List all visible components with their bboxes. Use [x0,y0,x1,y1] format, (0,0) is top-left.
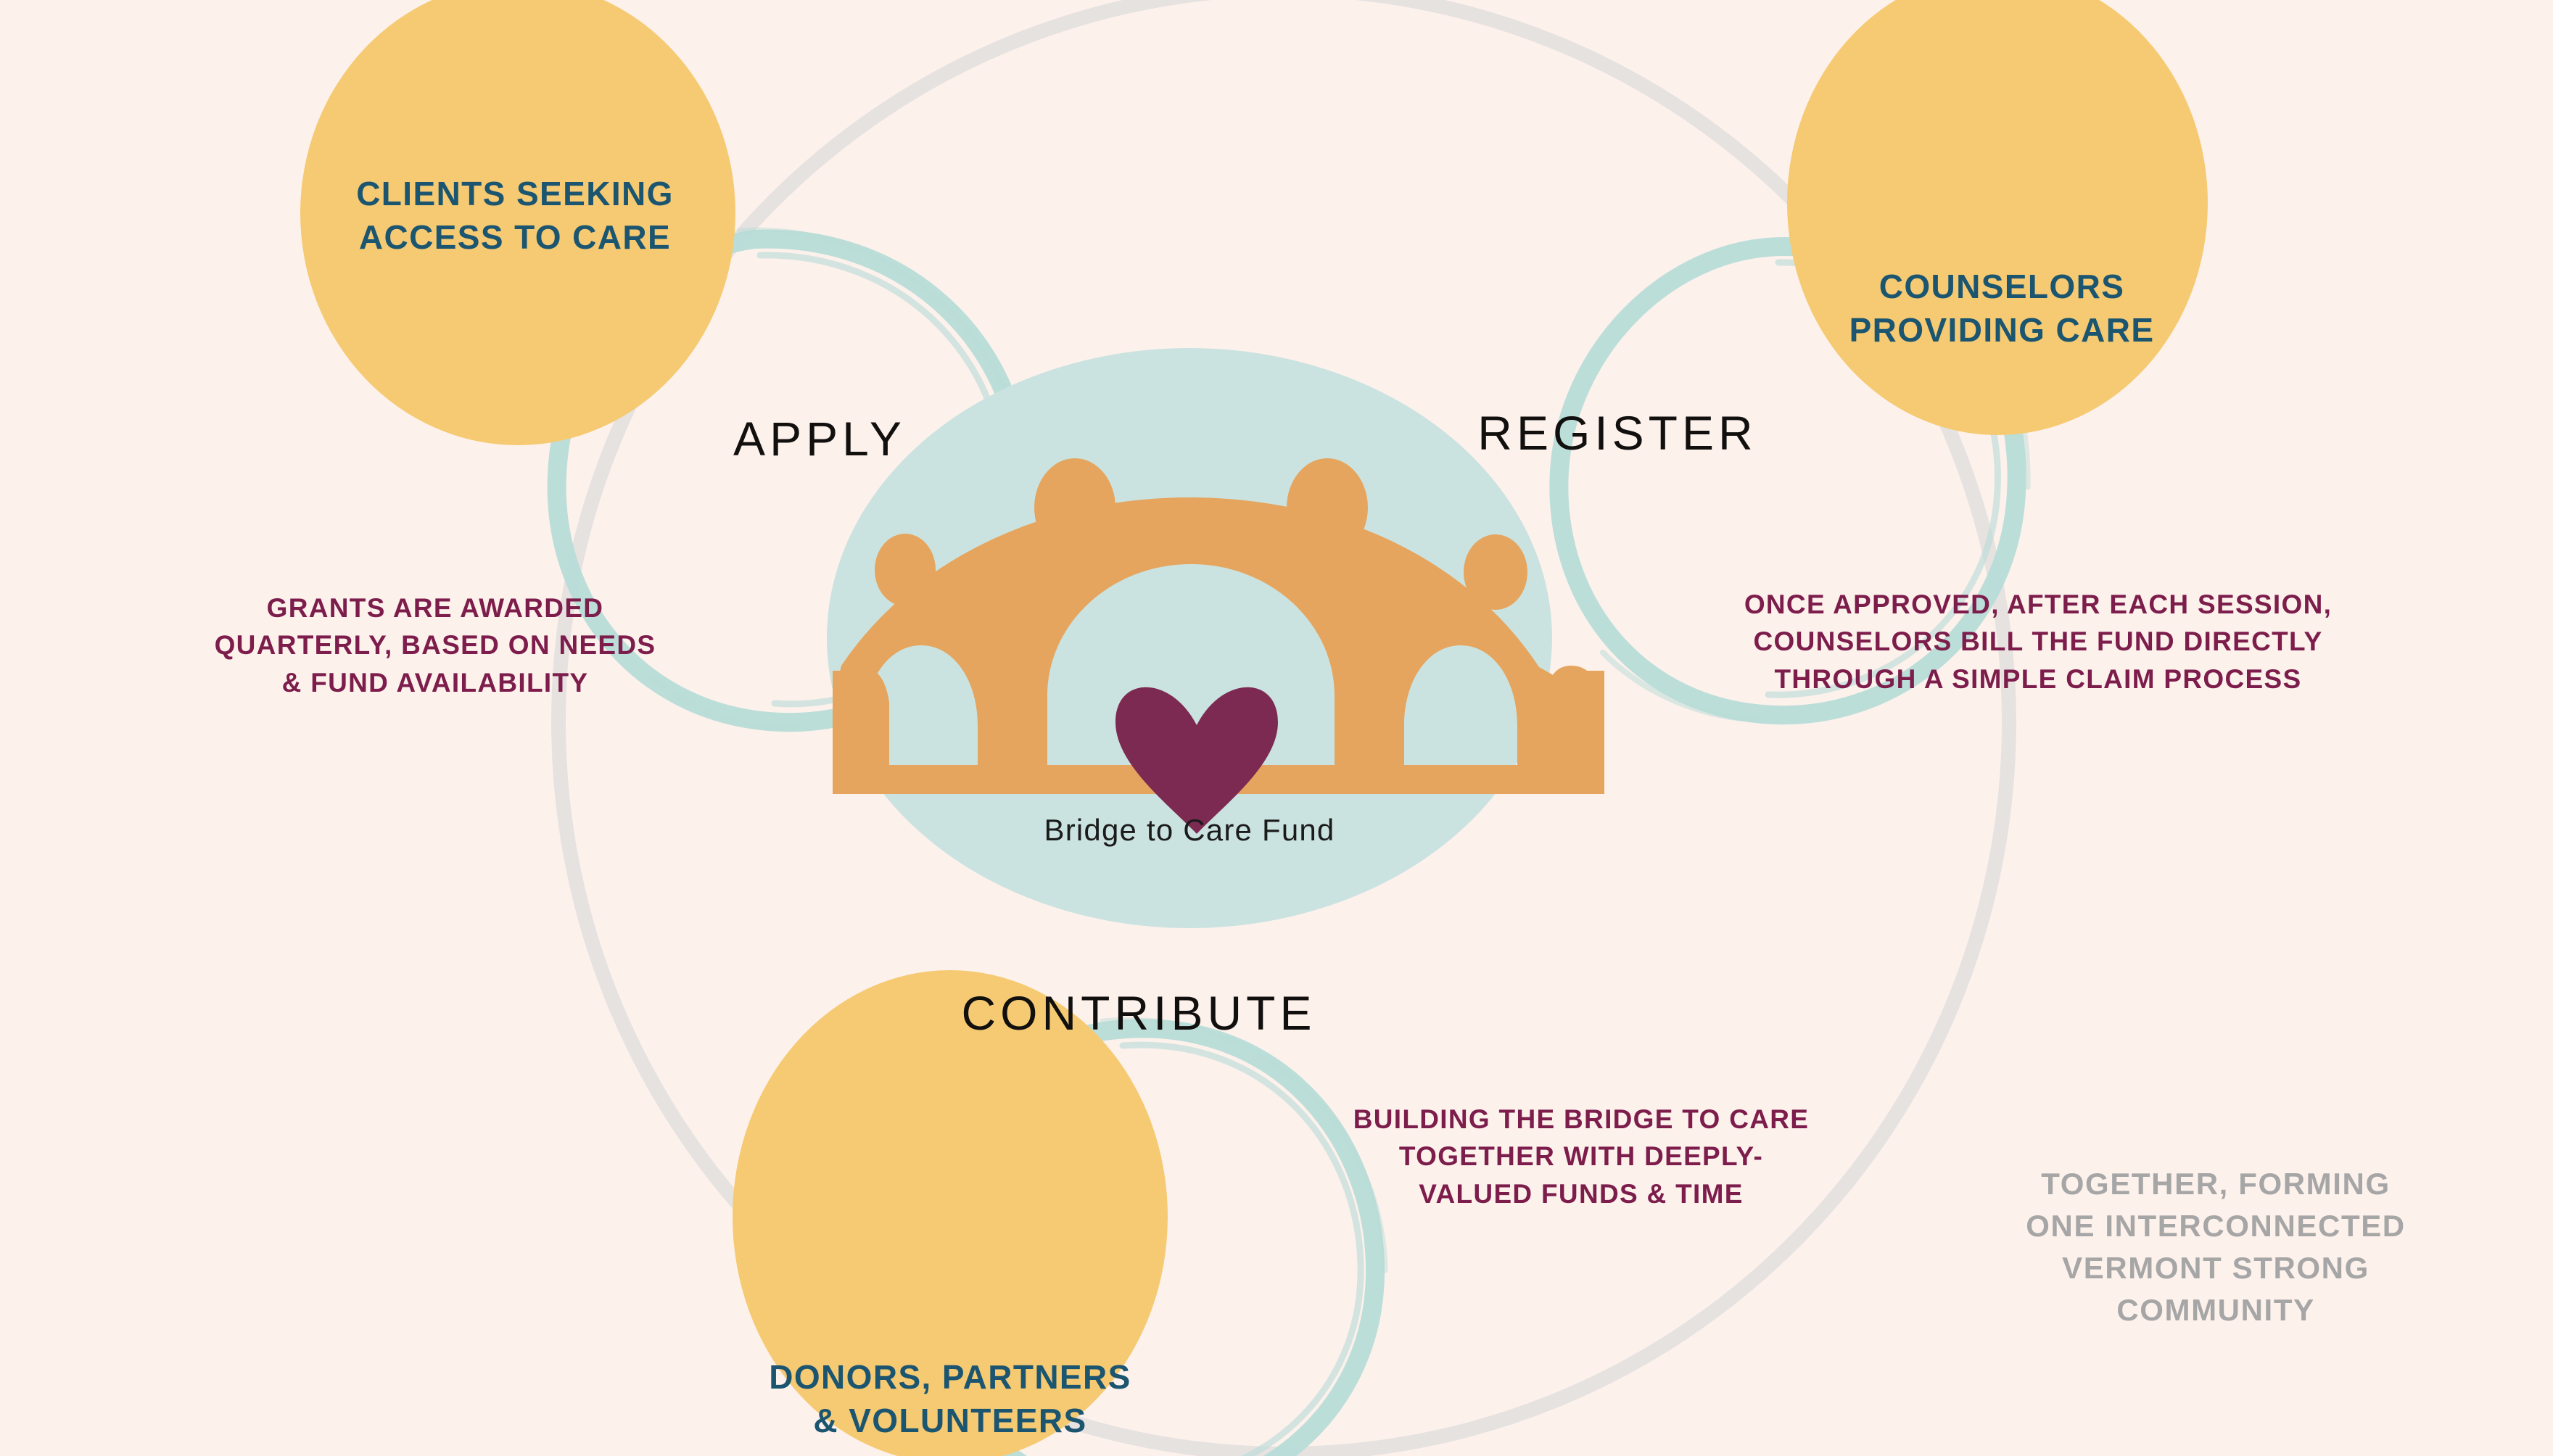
closing-statement: TOGETHER, FORMING ONE INTERCONNECTED VER… [1929,1153,2502,1341]
bridge-abutment-right [1572,671,1604,794]
node-label-donors: DONORS, PARTNERS & VOLUNTEERS [675,1356,1226,1443]
node-label-clients: CLIENTS SEEKING ACCESS TO CARE [261,173,769,260]
step-heading-contribute: CONTRIBUTE [914,980,1364,1046]
step-description-contribute: BUILDING THE BRIDGE TO CARE TOGETHER WIT… [1284,1091,1878,1222]
node-label-counselors: COUNSELORS PROVIDING CARE [1770,265,2234,352]
step-heading-register: REGISTER [1443,400,1791,466]
bridge-abutment-left [833,671,863,794]
step-description-register: ONCE APPROVED, AFTER EACH SESSION, COUNS… [1675,576,2401,707]
infographic-canvas: CLIENTS SEEKING ACCESS TO CARE COUNSELOR… [0,0,2553,1456]
step-heading-apply: APPLY [675,406,965,471]
step-description-apply: GRANTS ARE AWARDED QUARTERLY, BASED ON N… [160,580,711,711]
center-fund-caption: Bridge to Care Fund [965,805,1414,856]
